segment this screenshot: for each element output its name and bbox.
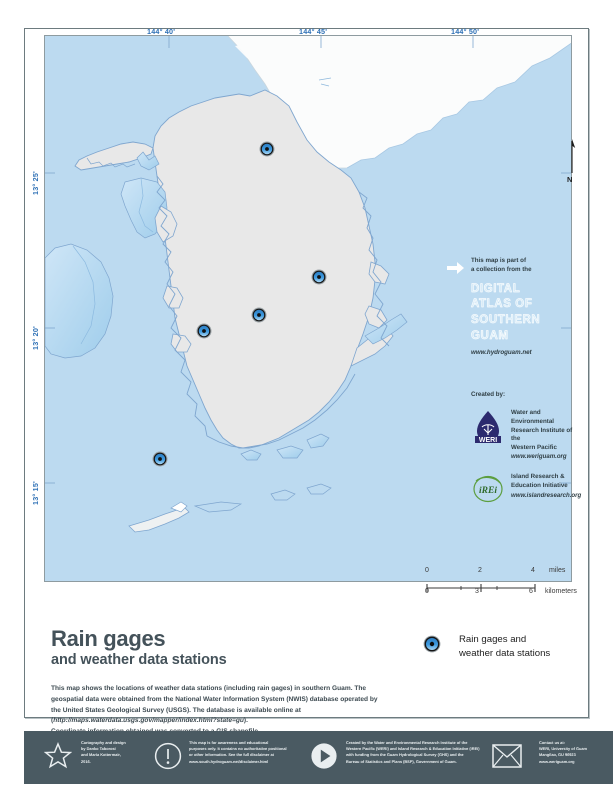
exclamation-circle-icon — [154, 742, 182, 770]
page-subtitle: and weather data stations — [51, 651, 381, 669]
station-marker[interactable] — [312, 270, 327, 285]
description-url[interactable]: http://maps.waterdata.usgs.gov/mapper/in… — [53, 717, 244, 724]
north-arrow-label: N — [567, 175, 572, 184]
atlas-promo-block: This map is part of a collection from th… — [471, 257, 576, 356]
north-arrow: N — [563, 137, 581, 189]
org-weri: WERI Water and Environmental Research In… — [471, 409, 583, 460]
created-by-label: Created by: — [471, 391, 583, 398]
north-arrow-icon — [563, 137, 581, 177]
latitude-label-3: 13° 15' — [31, 481, 40, 505]
atlas-title-line1: DIGITAL — [471, 282, 576, 298]
disclaimer-line4[interactable]: www.south.hydroguam.net/disclaimer.html — [189, 759, 324, 765]
map-description: This map shows the locations of weather … — [51, 684, 381, 737]
scale-bar: 0 2 4 miles 0 3 6 kilometers — [425, 567, 570, 599]
scale-kilometers-ticks: 0 3 6 kilometers — [425, 588, 570, 599]
star-icon — [44, 742, 72, 770]
poster-page: 144° 40' 144° 45' 144° 50' 13° 25' 13° 2… — [0, 0, 613, 792]
footer-bar: Cartography and design by Danko Taborosi… — [24, 731, 613, 784]
atlas-title-line4: GUAM — [471, 329, 576, 345]
station-marker[interactable] — [197, 324, 212, 339]
weri-name: Water and Environmental Research Institu… — [511, 409, 583, 453]
km-tick-2: 6 — [529, 588, 533, 595]
org-irei: iREi Island Research & Education Initiat… — [471, 473, 583, 509]
footer-cell-contact: Contact us at: WERI, University of Guam … — [484, 731, 613, 784]
svg-text:iREi: iREi — [479, 486, 497, 496]
envelope-icon — [492, 744, 522, 768]
atlas-title-line3: SOUTHERN — [471, 313, 576, 329]
station-marker[interactable] — [153, 452, 168, 467]
atlas-title-line2: ATLAS OF — [471, 297, 576, 313]
irei-logo: iREi — [471, 473, 507, 509]
play-circle-icon — [310, 742, 338, 770]
created-by-block: Created by: WERI Water and Environmental… — [471, 391, 583, 509]
longitude-label-2: 144° 45' — [299, 27, 327, 36]
irei-name-line1: Island Research & — [511, 473, 583, 482]
station-marker[interactable] — [260, 142, 275, 157]
irei-name-line2: Education Initiative — [511, 482, 583, 491]
km-tick-0: 0 — [425, 588, 429, 595]
legend-label-line1: Rain gages and — [459, 633, 550, 647]
irei-name: Island Research & Education Initiative — [511, 473, 583, 491]
legend: Rain gages and weather data stations — [423, 633, 550, 662]
weri-logo: WERI — [471, 409, 507, 445]
poster-frame: 144° 40' 144° 45' 144° 50' 13° 25' 13° 2… — [24, 28, 589, 718]
station-marker[interactable] — [252, 308, 267, 323]
arrow-right-icon — [447, 261, 465, 275]
longitude-label-1: 144° 40' — [147, 27, 175, 36]
title-block: Rain gages and weather data stations Thi… — [51, 627, 381, 738]
weri-name-line2: Research Institute of the — [511, 427, 583, 445]
latitude-label-1: 13° 25' — [31, 171, 40, 195]
irei-url[interactable]: www.islandresearch.org — [511, 492, 583, 499]
scale-miles-ticks: 0 2 4 miles — [425, 567, 570, 578]
scale-bar-line — [425, 579, 570, 587]
km-tick-1: 3 — [475, 588, 479, 595]
atlas-lede-line1: This map is part of — [471, 257, 576, 266]
miles-tick-2: 4 — [531, 567, 535, 574]
description-part2: ). — [244, 717, 248, 724]
miles-tick-0: 0 — [425, 567, 429, 574]
footer-contact-text: Contact us at: WERI, University of Guam … — [539, 740, 613, 765]
miles-tick-1: 2 — [478, 567, 482, 574]
legend-label-line2: weather data stations — [459, 647, 550, 661]
atlas-title: DIGITAL ATLAS OF SOUTHERN GUAM — [471, 282, 576, 344]
atlas-lede-line2: a collection from the — [471, 266, 576, 275]
weri-url[interactable]: www.weriguam.org — [511, 453, 583, 460]
weri-name-line1: Water and Environmental — [511, 409, 583, 427]
weri-name-line3: Western Pacific — [511, 444, 583, 453]
contact-line4[interactable]: www.weriguam.org — [539, 759, 613, 765]
legend-item-label: Rain gages and weather data stations — [459, 633, 550, 662]
longitude-label-3: 144° 50' — [451, 27, 479, 36]
miles-unit-label: miles — [549, 567, 565, 574]
page-title: Rain gages — [51, 627, 381, 650]
rain-gage-symbol-icon — [423, 635, 441, 653]
footer-disclaimer-text: This map is for awareness and educationa… — [189, 740, 324, 765]
legend-item-rain-gages: Rain gages and weather data stations — [423, 633, 550, 662]
kilometers-unit-label: kilometers — [545, 588, 577, 595]
footer-cell-disclaimer: This map is for awareness and educationa… — [144, 731, 324, 784]
latitude-label-2: 13° 20' — [31, 326, 40, 350]
atlas-url[interactable]: www.hydroguam.net — [471, 349, 576, 356]
svg-text:WERI: WERI — [479, 437, 497, 444]
